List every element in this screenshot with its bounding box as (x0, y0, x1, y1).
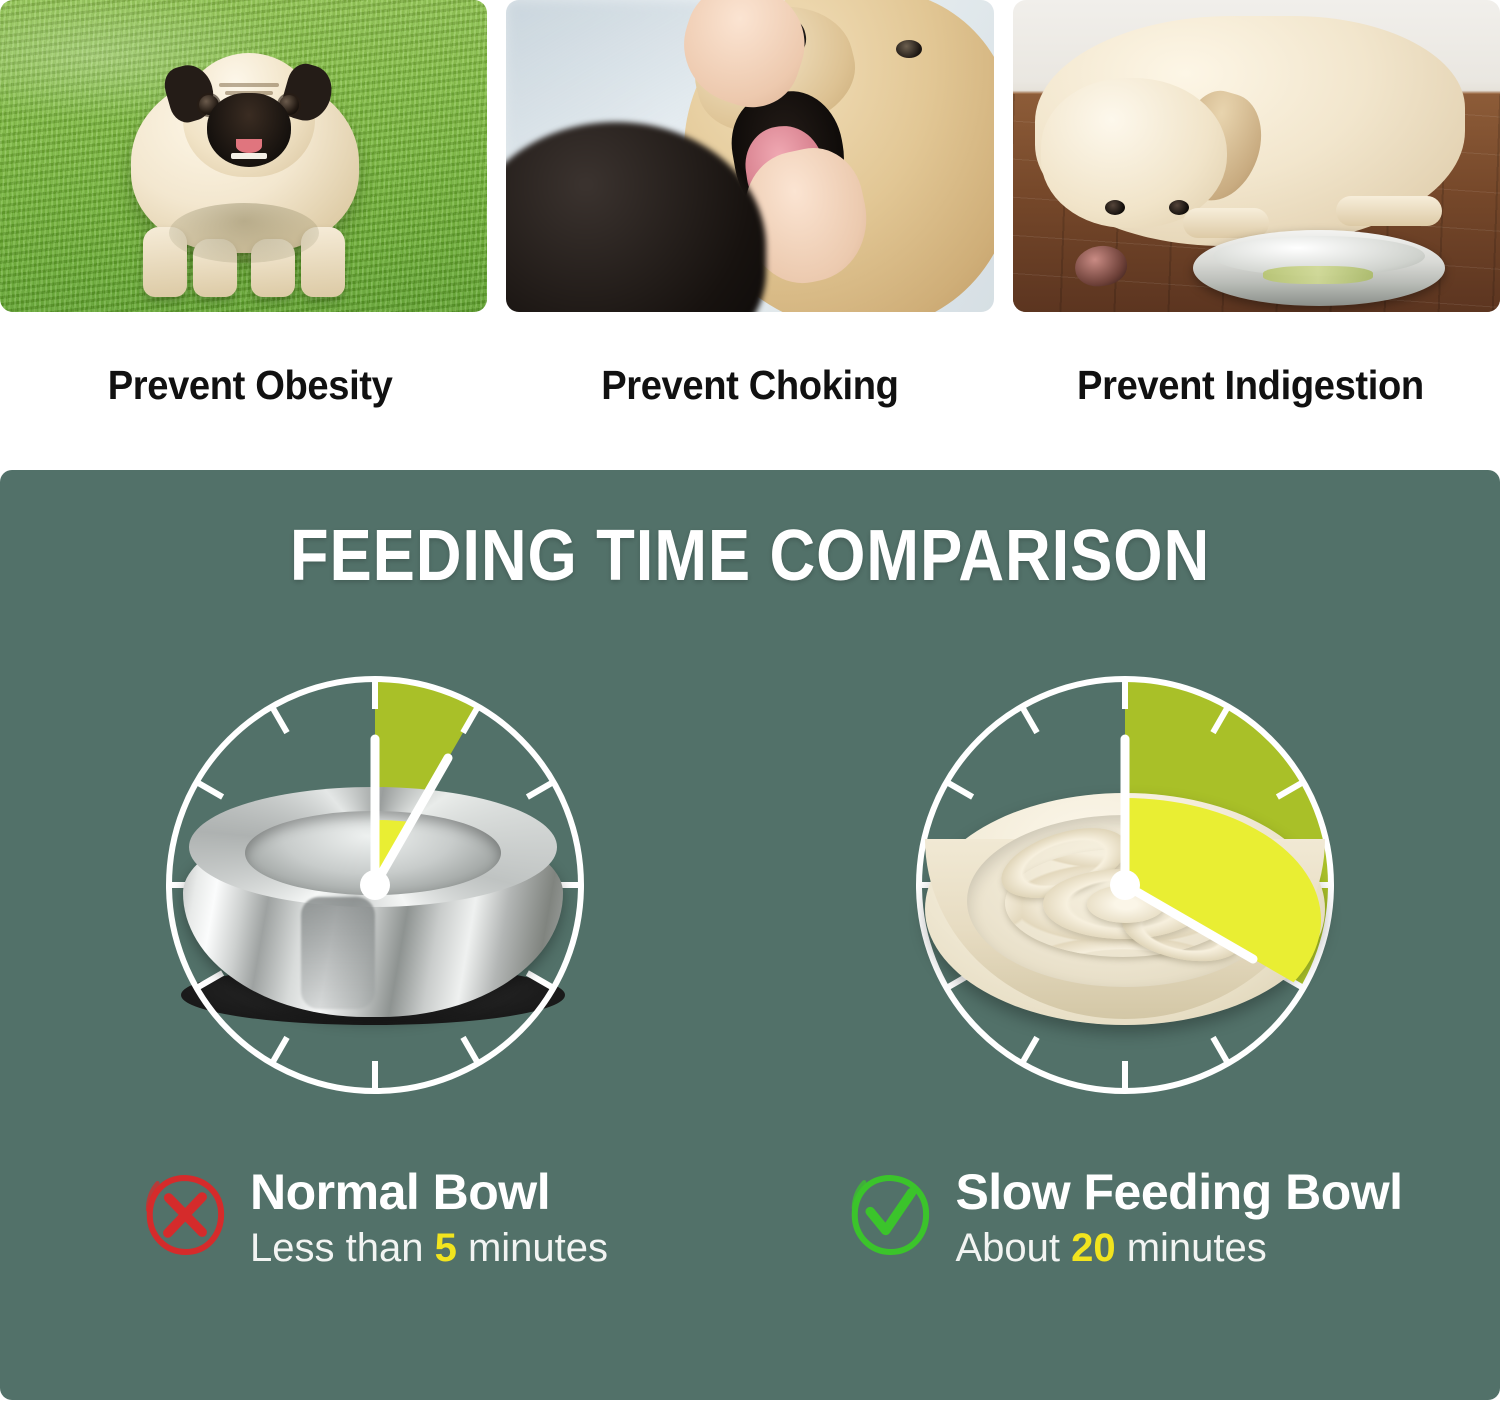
benefit-caption-row: Prevent Obesity Prevent Choking Prevent … (0, 330, 1500, 440)
benefit-photo-prevent-indigestion (1013, 0, 1500, 312)
clock-hands-overlay-icon (905, 665, 1345, 1105)
result-subtitle-slow-feeding-bowl: About 20 minutes (955, 1223, 1402, 1273)
result-sub-value: 20 (1071, 1226, 1116, 1270)
benefit-caption-choking: Prevent Choking (601, 362, 898, 409)
benefit-caption-cell: Prevent Indigestion (1000, 330, 1500, 440)
panel-title: FEEDING TIME COMPARISON (90, 515, 1410, 597)
pug-dog-illustration (109, 45, 379, 305)
result-subtitle-normal-bowl: Less than 5 minutes (250, 1223, 608, 1273)
result-title-slow-feeding-bowl: Slow Feeding Bowl (955, 1166, 1402, 1219)
clock-column-normal-bowl (0, 665, 750, 1135)
result-sub-prefix: About (955, 1226, 1071, 1270)
benefit-caption-cell: Prevent Choking (500, 330, 1000, 440)
clock-column-slow-feeding-bowl (750, 665, 1500, 1135)
clock-dial-row (0, 665, 1500, 1135)
result-title-normal-bowl: Normal Bowl (250, 1166, 608, 1219)
check-icon (847, 1172, 933, 1258)
benefit-photo-strip (0, 0, 1500, 312)
benefit-caption-obesity: Prevent Obesity (108, 362, 393, 409)
benefit-caption-indigestion: Prevent Indigestion (1077, 362, 1424, 409)
result-sub-suffix: minutes (457, 1226, 608, 1270)
clock-hands-overlay-icon (155, 665, 595, 1105)
feeding-time-comparison-panel: FEEDING TIME COMPARISON (0, 470, 1500, 1400)
clock-dial-normal-bowl (155, 665, 595, 1105)
result-text-block: Normal Bowl Less than 5 minutes (250, 1166, 608, 1273)
cross-icon (142, 1172, 228, 1258)
benefit-caption-cell: Prevent Obesity (0, 330, 500, 440)
comparison-result-row: Normal Bowl Less than 5 minutes Slow Fee… (0, 1160, 1500, 1320)
result-slow-feeding-bowl: Slow Feeding Bowl About 20 minutes (750, 1160, 1500, 1320)
result-text-block: Slow Feeding Bowl About 20 minutes (955, 1166, 1402, 1273)
clock-dial-slow-feeding-bowl (905, 665, 1345, 1105)
result-sub-value: 5 (435, 1226, 457, 1270)
result-sub-prefix: Less than (250, 1226, 435, 1270)
result-sub-suffix: minutes (1116, 1226, 1267, 1270)
benefit-photo-prevent-choking (506, 0, 993, 312)
steel-bowl-illustration (1193, 230, 1445, 306)
benefit-photo-prevent-obesity (0, 0, 487, 312)
result-normal-bowl: Normal Bowl Less than 5 minutes (0, 1160, 750, 1320)
